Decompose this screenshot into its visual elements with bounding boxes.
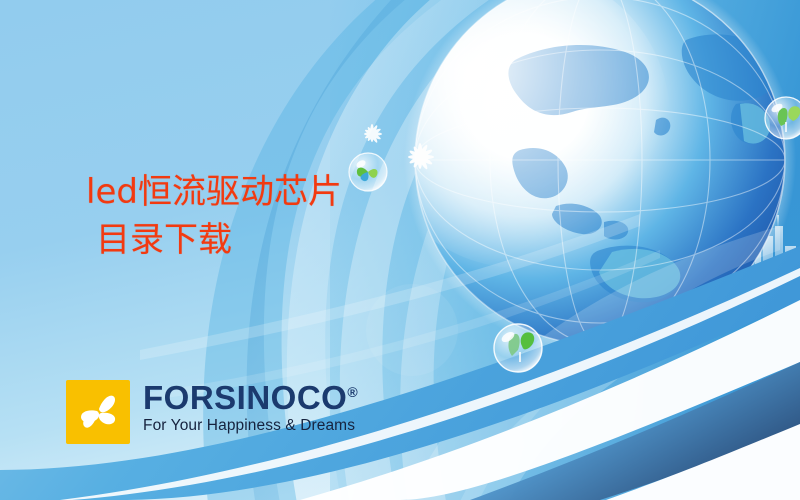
headline-line-1: led恒流驱动芯片 xyxy=(86,172,342,212)
registered-mark: ® xyxy=(347,384,358,400)
headline-line-2: 目录下载 xyxy=(96,216,342,264)
brand-name: FORSINOCO® xyxy=(143,381,358,414)
pinwheel-petals-icon xyxy=(66,380,130,444)
logo-mark xyxy=(66,380,130,444)
bubble-faint-large xyxy=(366,284,458,376)
headline: led恒流驱动芯片 目录下载 xyxy=(86,168,342,265)
logo-text-block: FORSINOCO® For Your Happiness & Dreams xyxy=(143,380,358,434)
company-logo[interactable]: FORSINOCO® For Your Happiness & Dreams xyxy=(66,380,358,444)
banner-canvas: led恒流驱动芯片 目录下载 FORSINOCO® For Your Happi… xyxy=(0,0,800,500)
bubble-sprout xyxy=(765,97,800,139)
bubble-pinwheel xyxy=(349,153,387,191)
brand-tagline: For Your Happiness & Dreams xyxy=(143,417,358,434)
brand-word: FORSINOCO xyxy=(143,379,347,416)
bubble-leaf xyxy=(494,324,542,372)
